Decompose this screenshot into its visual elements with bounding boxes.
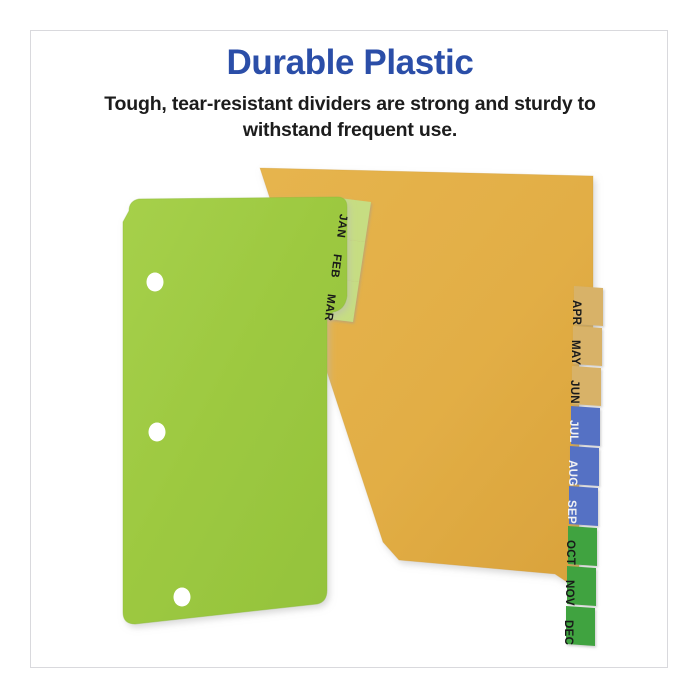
divider-illustration: [31, 150, 667, 666]
tab-group-green: [566, 526, 597, 646]
tab-group-blue: [569, 406, 600, 526]
page-title: Durable Plastic: [30, 44, 670, 83]
product-feature-card: Durable Plastic Tough, tear-resistant di…: [0, 0, 700, 700]
page-subtitle: Tough, tear-resistant dividers are stron…: [30, 91, 670, 144]
green-divider-sheet: [123, 197, 347, 624]
punch-hole-green-middle: [149, 423, 166, 442]
tab-group-gold: [572, 286, 603, 406]
punch-hole-green-top: [147, 273, 164, 292]
headline-block: Durable Plastic Tough, tear-resistant di…: [30, 44, 670, 143]
punch-hole-green-bottom: [174, 588, 191, 607]
product-photo: JAN FEB MAR APR MAY JUN JUL AUG SEP OCT …: [31, 150, 667, 666]
